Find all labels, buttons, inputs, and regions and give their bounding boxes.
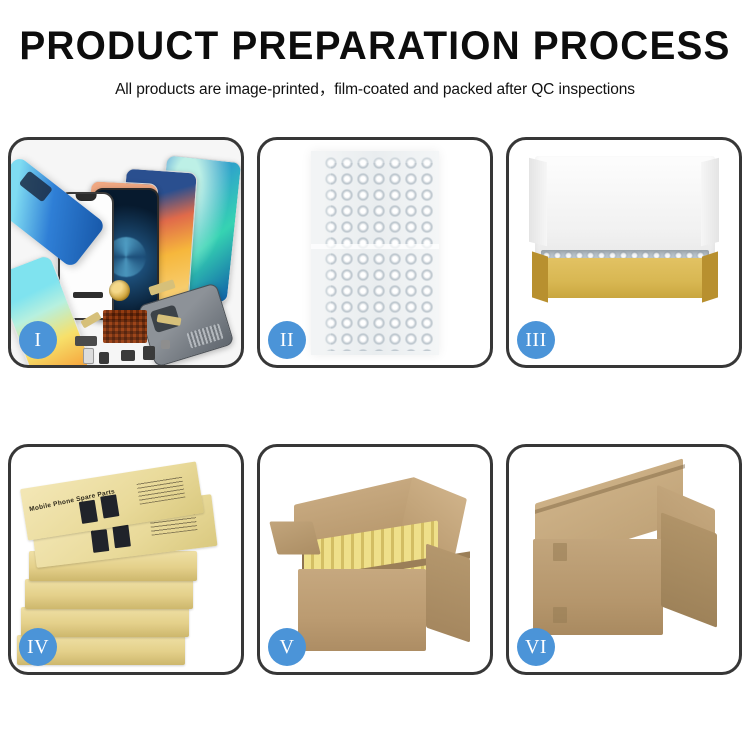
step-badge-5: V xyxy=(268,628,306,666)
step-badge-2: II xyxy=(268,321,306,359)
box-lid xyxy=(535,156,715,264)
carton-side-face xyxy=(426,543,470,642)
step-panel-2: II xyxy=(257,137,493,368)
step-panel-5: V xyxy=(257,444,493,675)
step-panel-3: III xyxy=(506,137,742,368)
carton-flap-left xyxy=(269,522,321,555)
page-title: PRODUCT PREPARATION PROCESS xyxy=(11,26,739,66)
sealed-carton-side xyxy=(661,512,717,627)
chip-part-1 xyxy=(121,350,135,361)
step-badge-4: IV xyxy=(19,628,57,666)
bubble-texture-back xyxy=(331,163,433,351)
step-badge-6: VI xyxy=(517,628,555,666)
step-panel-1: I xyxy=(8,137,244,368)
step-badge-1: I xyxy=(19,321,57,359)
screw-grid-part xyxy=(103,310,147,343)
kraft-tray-body xyxy=(533,258,717,298)
part-bar-2 xyxy=(75,336,97,346)
process-steps-grid: I II III xyxy=(8,137,742,675)
box-screen-icon-1b xyxy=(112,524,131,548)
chip-part-5 xyxy=(83,348,94,364)
step-panel-4: Mobile Phone Spare Parts Mobile Phone Sp… xyxy=(8,444,244,675)
phone-notch xyxy=(76,194,97,201)
bubble-wrap-sheet xyxy=(311,151,439,355)
box-lid-flap-left xyxy=(529,158,547,246)
header: PRODUCT PREPARATION PROCESS All products… xyxy=(0,0,750,99)
chip-part-4 xyxy=(161,340,170,349)
part-bar-1 xyxy=(73,292,103,298)
carton-front-face xyxy=(298,569,426,651)
chip-part-3 xyxy=(99,352,109,364)
box-screen-icon-0b xyxy=(100,494,119,518)
chip-part-2 xyxy=(143,346,155,360)
box-spec-lines-0 xyxy=(136,476,185,505)
step-panel-6: VI xyxy=(506,444,742,675)
carton-tape-mark-1 xyxy=(553,543,567,561)
copper-coil-part xyxy=(109,280,130,301)
product-preparation-infographic: PRODUCT PREPARATION PROCESS All products… xyxy=(0,0,750,750)
box-lid-flap-right xyxy=(701,158,719,246)
page-subtitle: All products are image-printed，film-coat… xyxy=(0,77,750,99)
stacked-box-3 xyxy=(25,579,193,609)
box-screen-icon-0a xyxy=(79,500,98,524)
step-badge-3: III xyxy=(517,321,555,359)
box-screen-icon-1a xyxy=(91,529,110,553)
carton-tape-mark-2 xyxy=(553,607,567,623)
